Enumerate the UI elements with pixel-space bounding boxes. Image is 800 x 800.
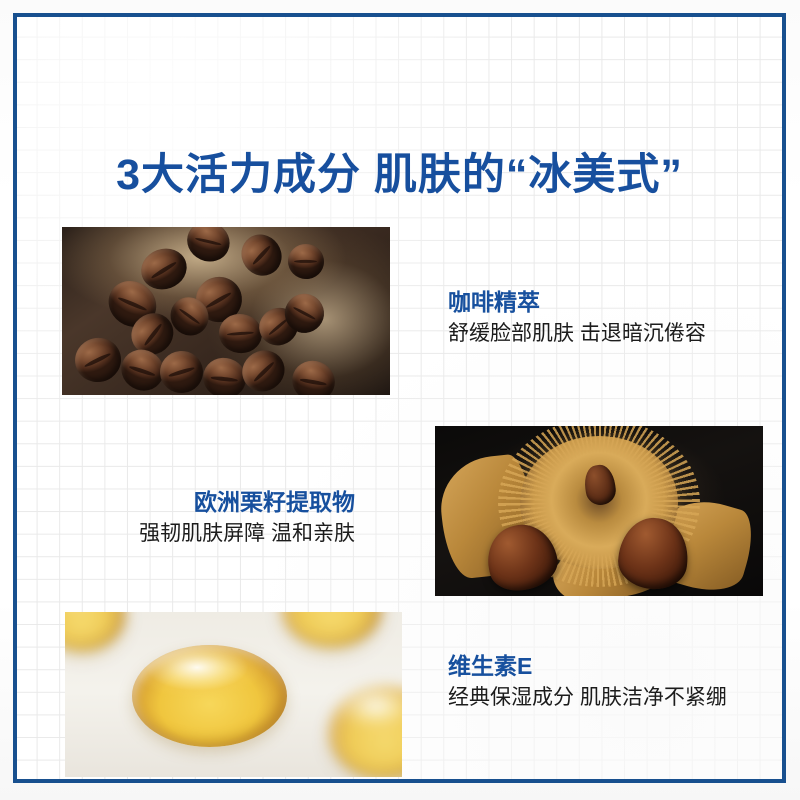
product-detail-page: 3大活力成分 肌肤的“冰美式”: [0, 0, 800, 800]
vitamin-e-photo-inner: [65, 612, 402, 777]
chestnut-photo: [435, 426, 763, 596]
coffee-text-block: 咖啡精萃 舒缓脸部肌肤 击退暗沉倦容: [448, 287, 706, 350]
coffee-beans-photo-inner: [62, 227, 390, 395]
chestnut-description: 强韧肌肤屏障 温和亲肤: [139, 518, 355, 550]
coffee-description: 舒缓脸部肌肤 击退暗沉倦容: [448, 318, 706, 350]
vitamin-e-description: 经典保湿成分 肌肤洁净不紧绷: [448, 682, 727, 714]
chestnut-photo-inner: [435, 426, 763, 596]
page-title: 3大活力成分 肌肤的“冰美式”: [17, 151, 782, 200]
vitamin-e-text-block: 维生素E 经典保湿成分 肌肤洁净不紧绷: [448, 651, 727, 714]
chestnut-heading: 欧洲栗籽提取物: [139, 487, 355, 518]
chestnut-text-block: 欧洲栗籽提取物 强韧肌肤屏障 温和亲肤: [139, 487, 355, 550]
vitamin-e-capsule-photo: [65, 612, 402, 777]
vitamin-e-heading: 维生素E: [448, 651, 727, 682]
coffee-beans-photo: [62, 227, 390, 395]
chestnut-burr-nut: [582, 463, 617, 507]
content-frame: 3大活力成分 肌肤的“冰美式”: [13, 13, 786, 783]
coffee-heading: 咖啡精萃: [448, 287, 706, 318]
content-area: 3大活力成分 肌肤的“冰美式”: [17, 17, 782, 779]
